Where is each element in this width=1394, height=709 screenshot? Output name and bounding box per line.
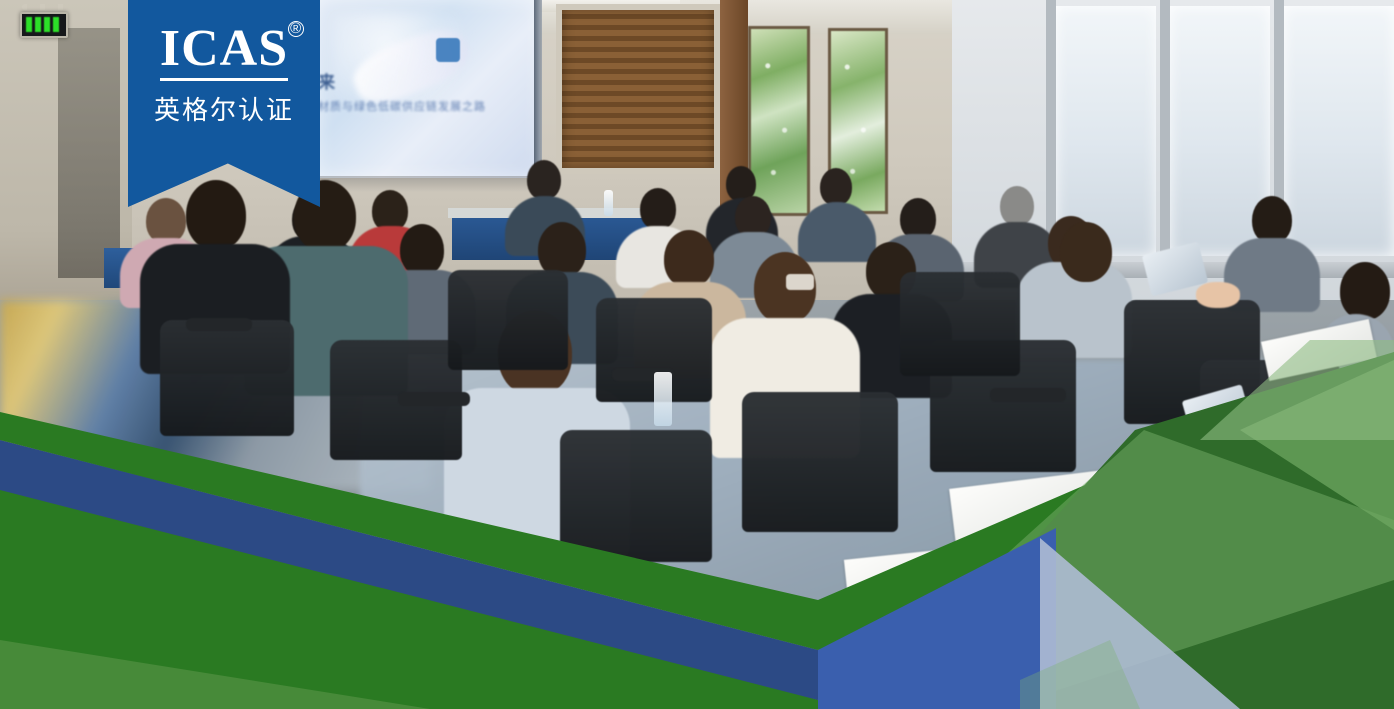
water-bottle <box>654 372 672 426</box>
office-chair <box>742 392 898 532</box>
artwork-left <box>748 26 810 216</box>
attendee-head <box>640 188 676 230</box>
attendee-head <box>1060 222 1112 282</box>
door-panel <box>58 28 120 278</box>
office-chair <box>560 430 712 562</box>
panel-screws <box>22 4 66 10</box>
attendee-head <box>664 230 714 288</box>
window-mullion <box>1160 0 1170 290</box>
brand-chinese-name: 英格尔认证 <box>154 90 294 127</box>
chair-armrest <box>990 388 1066 402</box>
attendee-head <box>400 224 444 276</box>
screen-title-text: 来 <box>318 68 488 90</box>
brand-wordmark: ICAS ® <box>160 23 288 81</box>
attendee-head <box>527 160 561 200</box>
led-display-icon <box>20 12 68 38</box>
registered-trademark-icon: ® <box>288 21 304 37</box>
attendee-head <box>1340 262 1390 320</box>
attendee-head <box>186 180 246 250</box>
hand <box>1196 282 1240 308</box>
screen-drop-shadow <box>318 176 542 192</box>
office-chair <box>160 320 294 436</box>
brand-wordmark-text: ICAS <box>160 20 288 77</box>
screen-frame-right <box>534 0 542 176</box>
artwork-texture <box>751 29 807 213</box>
window-blinds-frame <box>556 4 720 174</box>
chair-armrest <box>398 392 470 406</box>
banner-canvas: 来 材质与绿色低碳供应链发展之路 <box>0 0 1394 709</box>
hair-clip <box>786 274 814 290</box>
hand <box>1204 418 1250 444</box>
brand-logo-inner: ICAS ® 英格尔认证 <box>128 0 320 150</box>
attendee-head <box>820 168 852 206</box>
screen-logo-badge <box>436 38 460 62</box>
attendee-head <box>1252 196 1292 244</box>
chair-armrest <box>186 318 252 331</box>
screen-subtitle-text: 材质与绿色低碳供应链发展之路 <box>318 98 498 114</box>
window-pane <box>1284 6 1394 256</box>
water-bottle <box>604 190 613 216</box>
office-chair <box>900 272 1020 376</box>
led-segments <box>26 17 62 32</box>
attendee-head <box>1000 186 1034 226</box>
office-chair <box>448 270 568 370</box>
